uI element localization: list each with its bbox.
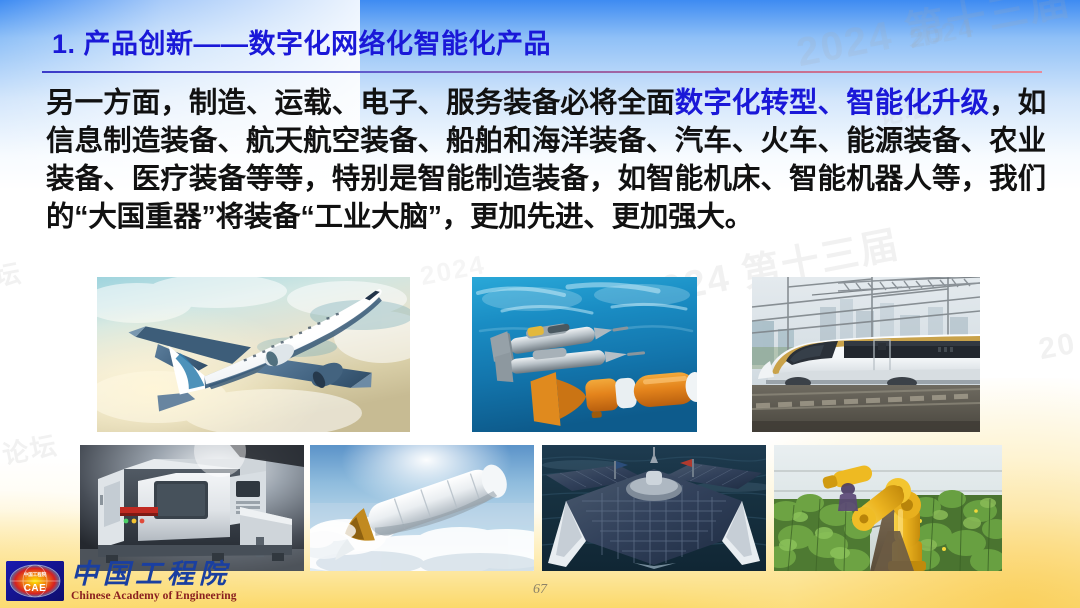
high-speed-train-photo bbox=[752, 277, 980, 432]
slide-title: 1. 产品创新——数字化网络化智能化产品 bbox=[52, 22, 551, 61]
page-number: 67 bbox=[0, 582, 1080, 598]
commercial-airliner-photo bbox=[97, 277, 410, 432]
watermark-text: 坛 bbox=[0, 253, 25, 295]
cnc-machine-tool-photo bbox=[80, 445, 304, 571]
body-highlight-phrase: 数字化转型、智能化升级 bbox=[675, 87, 989, 119]
agricultural-robot-photo bbox=[774, 445, 1002, 571]
presentation-slide: 2024 第十三届 2024 2024 第十三届 2024 论坛 坛 20 论坛… bbox=[0, 0, 1080, 608]
rocket-launch-photo bbox=[310, 445, 534, 571]
title-underline-rule bbox=[42, 71, 1042, 73]
svg-text:中国工程院: 中国工程院 bbox=[24, 571, 47, 578]
watermark-text: 20 bbox=[1036, 327, 1079, 368]
body-paragraph: 另一方面，制造、运载、电子、服务装备必将全面数字化转型、智能化升级，如信息制造装… bbox=[46, 84, 1046, 236]
body-segment-1: 另一方面，制造、运载、电子、服务装备必将全面 bbox=[46, 87, 675, 119]
underwater-vehicles-photo bbox=[472, 277, 697, 432]
solar-powered-vessel-photo bbox=[542, 445, 766, 571]
